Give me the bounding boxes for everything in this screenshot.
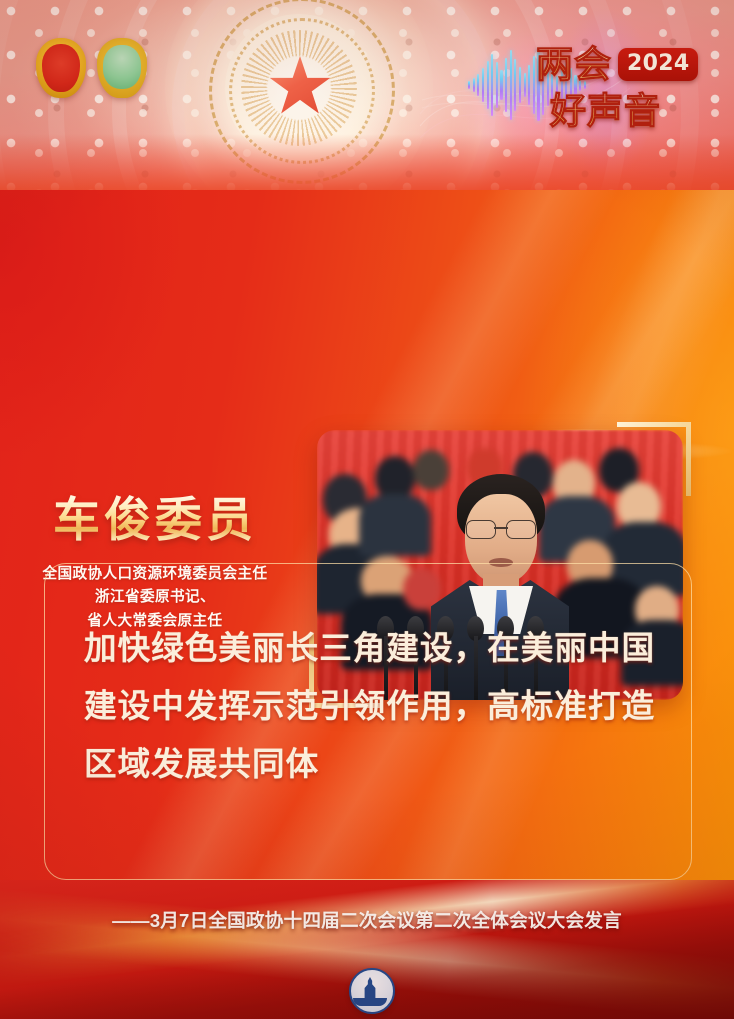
cppcc-emblem-icon: [97, 38, 147, 98]
poster-header: 两会 2024 好声音: [0, 0, 734, 196]
brand-year-badge: 2024: [618, 48, 698, 81]
footer-attribution: ——3月7日全国政协十四届二次会议第二次全体会议大会发言: [0, 906, 734, 933]
poster-root: 两会 2024 好声音: [0, 0, 734, 1019]
quote-text: 加快绿色美丽长三角建设，在美丽中国建设中发挥示范引领作用，高标准打造区域发展共同…: [84, 620, 664, 794]
speaker-name: 车俊委员: [0, 495, 310, 546]
media-outlet-logo-icon: [337, 968, 397, 1014]
poster-body: 车俊委员 全国政协人口资源环境委员会主任 浙江省委原书记、 省人大常委会原主任 …: [0, 190, 734, 890]
brand-lockup: 两会 2024 好声音: [536, 46, 712, 144]
national-emblem-of-china-icon: [36, 38, 86, 98]
eyeglasses-icon: [465, 520, 537, 537]
emblem-group: [36, 38, 147, 98]
brand-line1: 两会: [536, 46, 612, 83]
photo-frame-corner-top-right: [617, 422, 691, 496]
brand-line2: 好声音: [550, 93, 661, 129]
header-fade: [0, 134, 734, 196]
